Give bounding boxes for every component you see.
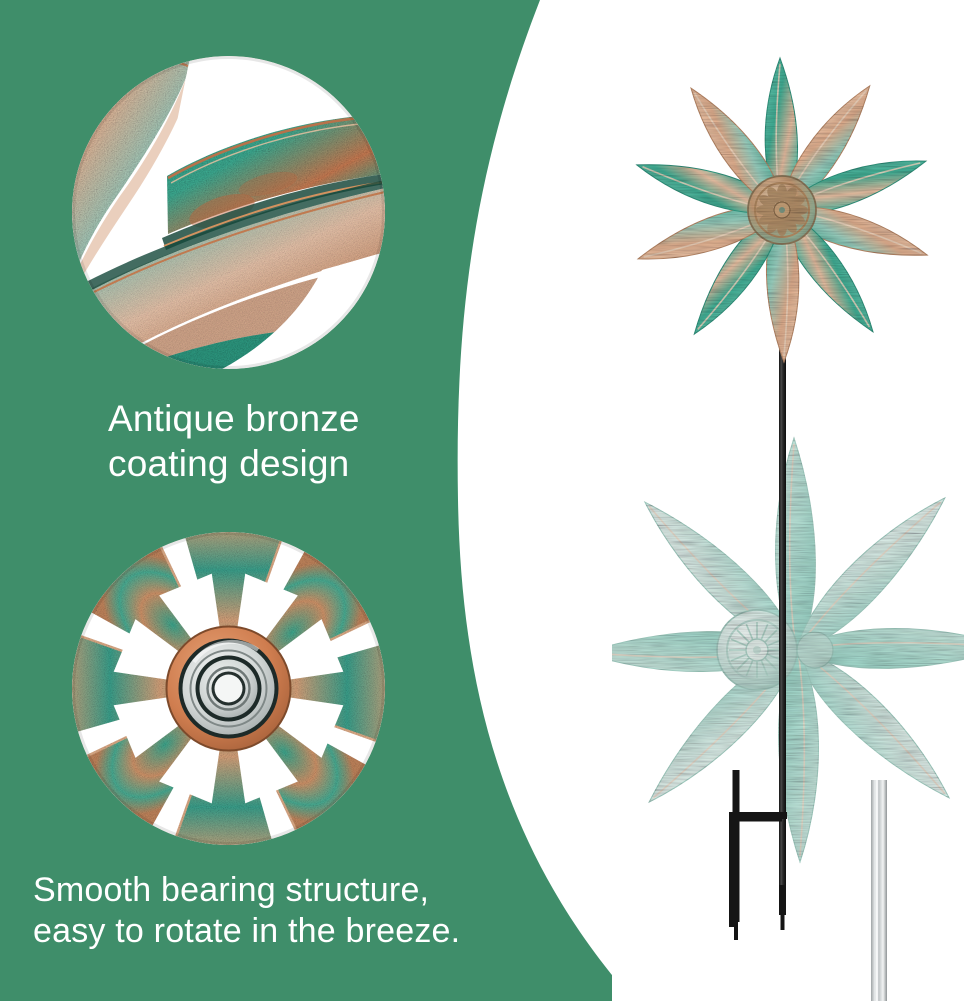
inset-circle-coating: [72, 56, 385, 369]
upper-rotor-hub: [748, 176, 816, 244]
caption-coating: Antique bronze coating design: [108, 396, 360, 486]
inset-circle-bearing: [72, 532, 385, 845]
caption-coating-line-1: Antique bronze: [108, 396, 360, 441]
caption-bearing: Smooth bearing structure, easy to rotate…: [33, 870, 460, 953]
bearing-hub-closeup-icon: [72, 532, 385, 845]
chrome-extension-rod: [871, 780, 887, 1001]
caption-bearing-line-2: easy to rotate in the breeze.: [33, 911, 460, 952]
caption-coating-line-2: coating design: [108, 441, 360, 486]
product-feature-panel: Antique bronze coating design: [0, 0, 964, 1001]
wind-spinner-illustration: [612, 0, 964, 1001]
caption-bearing-line-1: Smooth bearing structure,: [33, 870, 460, 911]
product-photo-wind-spinner: [612, 0, 964, 1001]
petal-coating-closeup-icon: [72, 56, 385, 369]
